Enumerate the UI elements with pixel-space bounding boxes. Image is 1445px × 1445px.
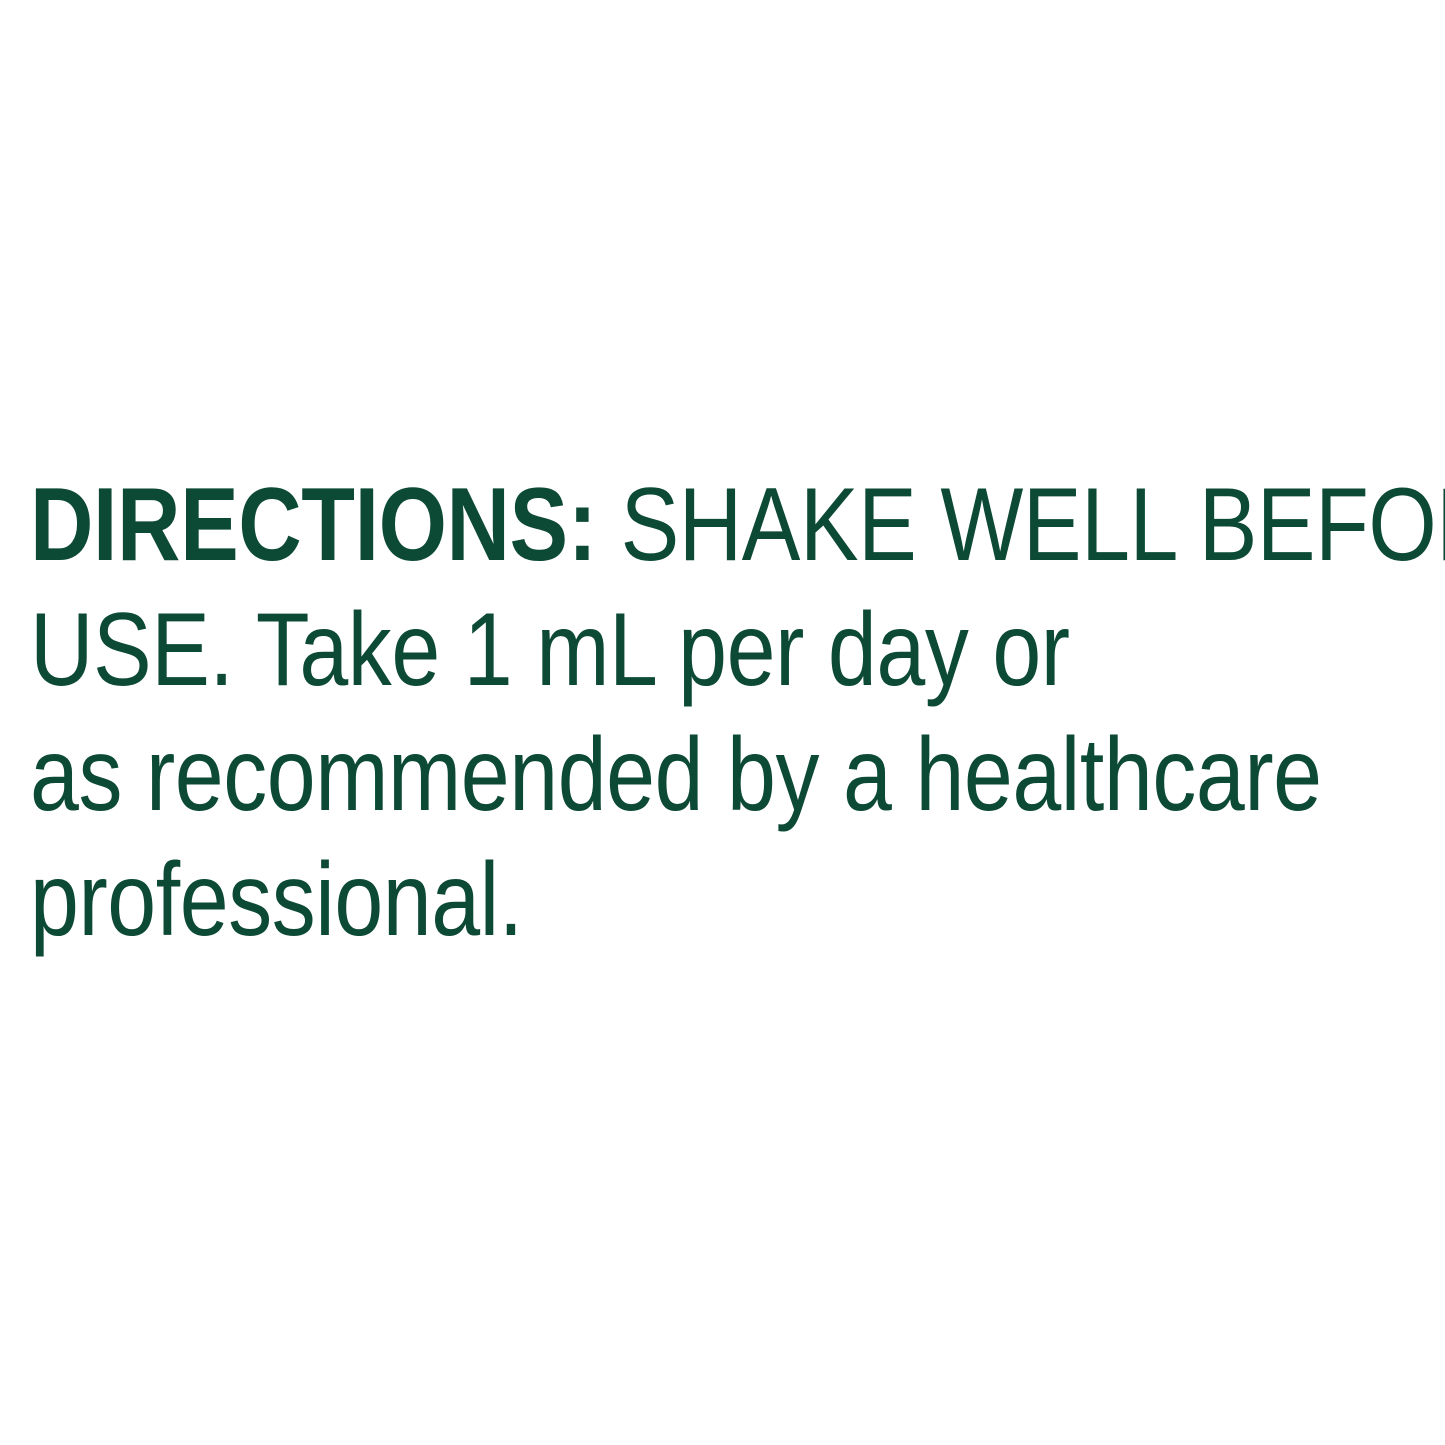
directions-line-4: professional.	[30, 838, 1218, 963]
directions-lead-in-text: SHAKE WELL BEFORE	[597, 467, 1445, 583]
hairline-divider	[0, 988, 1445, 989]
directions-line-3: as recommended by a healthcare	[30, 713, 1218, 838]
directions-line-1: DIRECTIONS: SHAKE WELL BEFORE	[30, 463, 1218, 588]
supplement-label-directions-panel: DIRECTIONS: SHAKE WELL BEFORE USE. Take …	[0, 0, 1445, 1445]
directions-text-block: DIRECTIONS: SHAKE WELL BEFORE USE. Take …	[30, 463, 1436, 963]
directions-heading-label: DIRECTIONS:	[30, 467, 597, 583]
directions-line-2: USE. Take 1 mL per day or	[30, 588, 1218, 713]
